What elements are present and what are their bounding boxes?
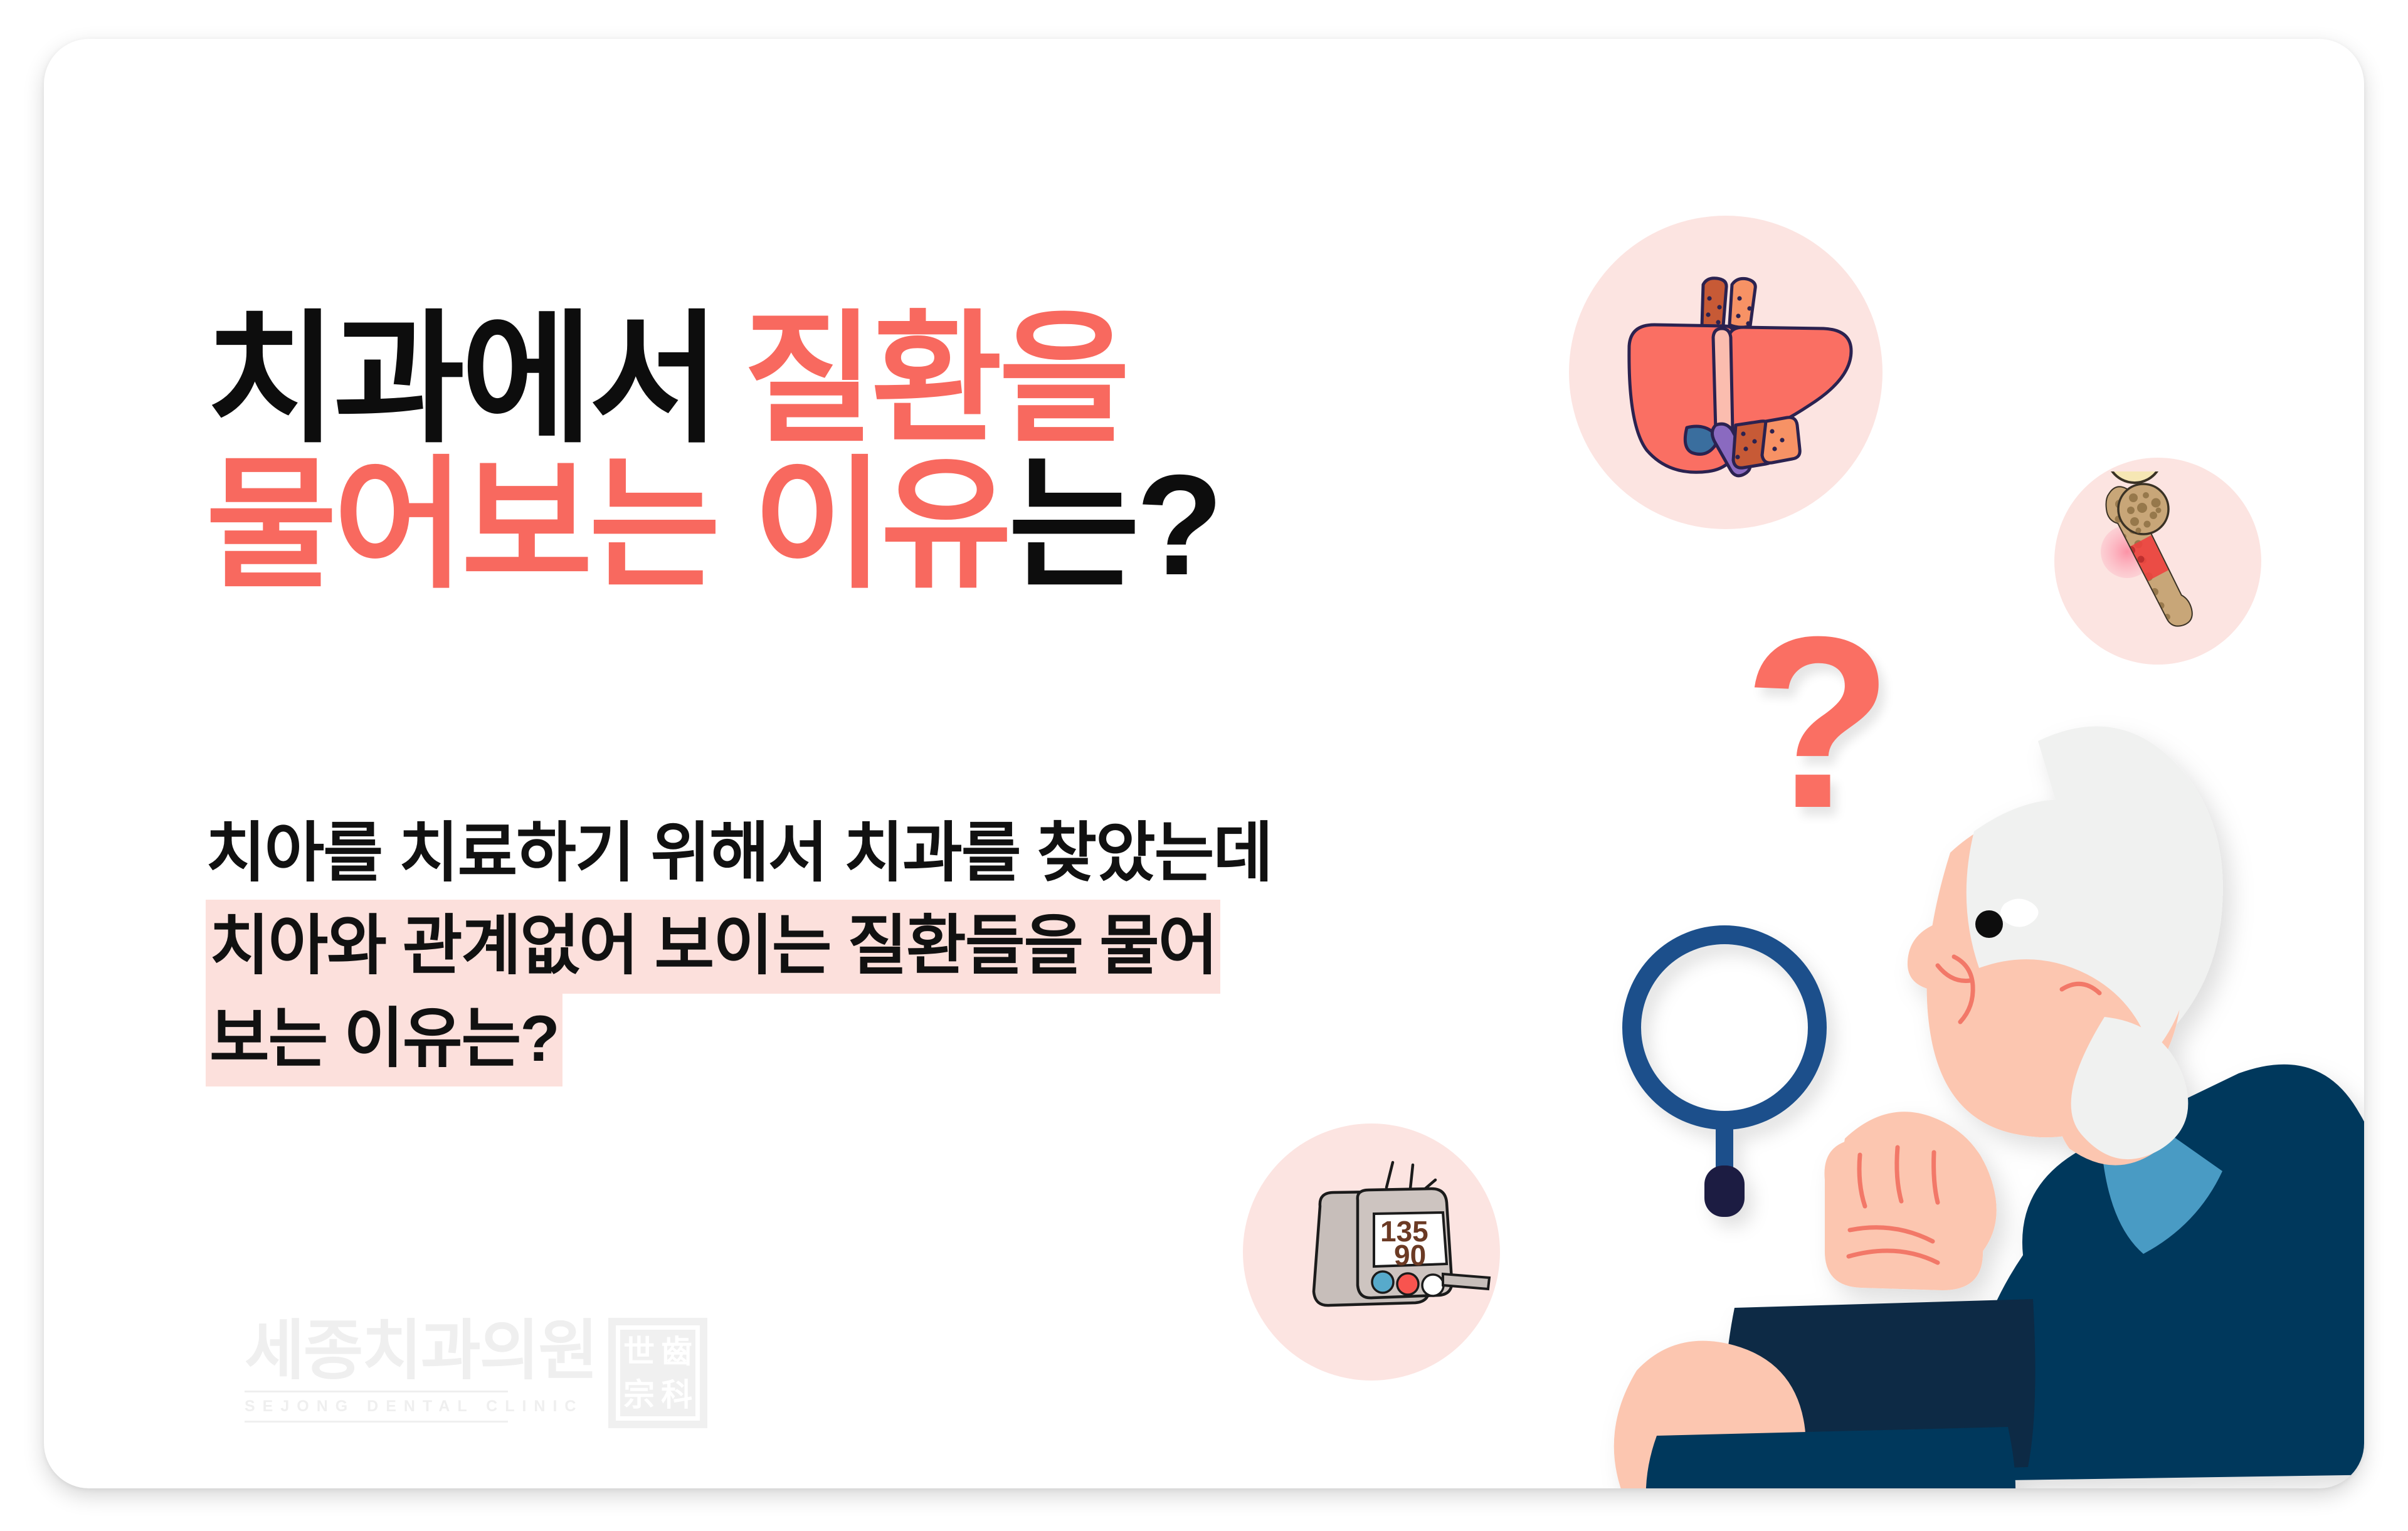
headline-line2-accent: 물어보는 이유 [206, 446, 1008, 605]
seal-char-3: 宗 [620, 1373, 658, 1416]
logo-seal-stamp: 世 齒 宗 科 [608, 1318, 707, 1428]
svg-text:90: 90 [1394, 1239, 1426, 1271]
body-line-3-text: 보는 이유는? [206, 992, 562, 1086]
poster-card: 135 90 [44, 39, 2364, 1488]
logo-english-name: SEJONG DENTAL CLINIC [245, 1397, 597, 1416]
page-title: 치과에서질환을 물어보는 이유는? [206, 308, 1648, 599]
seal-char-1: 世 [620, 1330, 658, 1373]
logo-divider-bottom [245, 1421, 508, 1423]
headline-line1-black: 치과에서 [206, 300, 717, 460]
body-line-3: 보는 이유는? [206, 992, 1523, 1085]
logo-korean-name: 세종치과의원 [245, 1318, 597, 1384]
seal-char-4: 科 [658, 1373, 695, 1416]
headline-line1-accent: 질환을 [743, 300, 1126, 460]
magnifying-glass-illustration [1605, 920, 1875, 1246]
blood-pressure-monitor-illustration: 135 90 [1257, 1130, 1496, 1368]
headline-line-1: 치과에서질환을 [206, 308, 1648, 454]
body-line-2: 치아와 관계없어 보이는 질환들을 물어 [206, 900, 1523, 992]
headline-line-2: 물어보는 이유는? [206, 454, 1648, 599]
question-mark-icon: ? [1743, 600, 1893, 844]
body-line-1: 치아를 치료하기 위해서 치과를 찾았는데 [206, 807, 1523, 900]
bone-illustration [2069, 471, 2251, 653]
headline-line2-black: 는? [1008, 446, 1220, 605]
clinic-logo: 세종치과의원 SEJONG DENTAL CLINIC 世 齒 宗 科 [245, 1318, 707, 1428]
seal-char-2: 齒 [658, 1330, 695, 1373]
logo-wordmark: 세종치과의원 SEJONG DENTAL CLINIC [245, 1318, 597, 1423]
body-copy: 치아를 치료하기 위해서 치과를 찾았는데 치아와 관계없어 보이는 질환들을 … [206, 807, 1523, 1085]
poster-canvas: 135 90 [0, 0, 2408, 1531]
logo-divider-top [245, 1391, 508, 1392]
body-line-1-text: 치아를 치료하기 위해서 치과를 찾았는데 [206, 817, 1272, 890]
body-line-2-text: 치아와 관계없어 보이는 질환들을 물어 [206, 900, 1220, 994]
